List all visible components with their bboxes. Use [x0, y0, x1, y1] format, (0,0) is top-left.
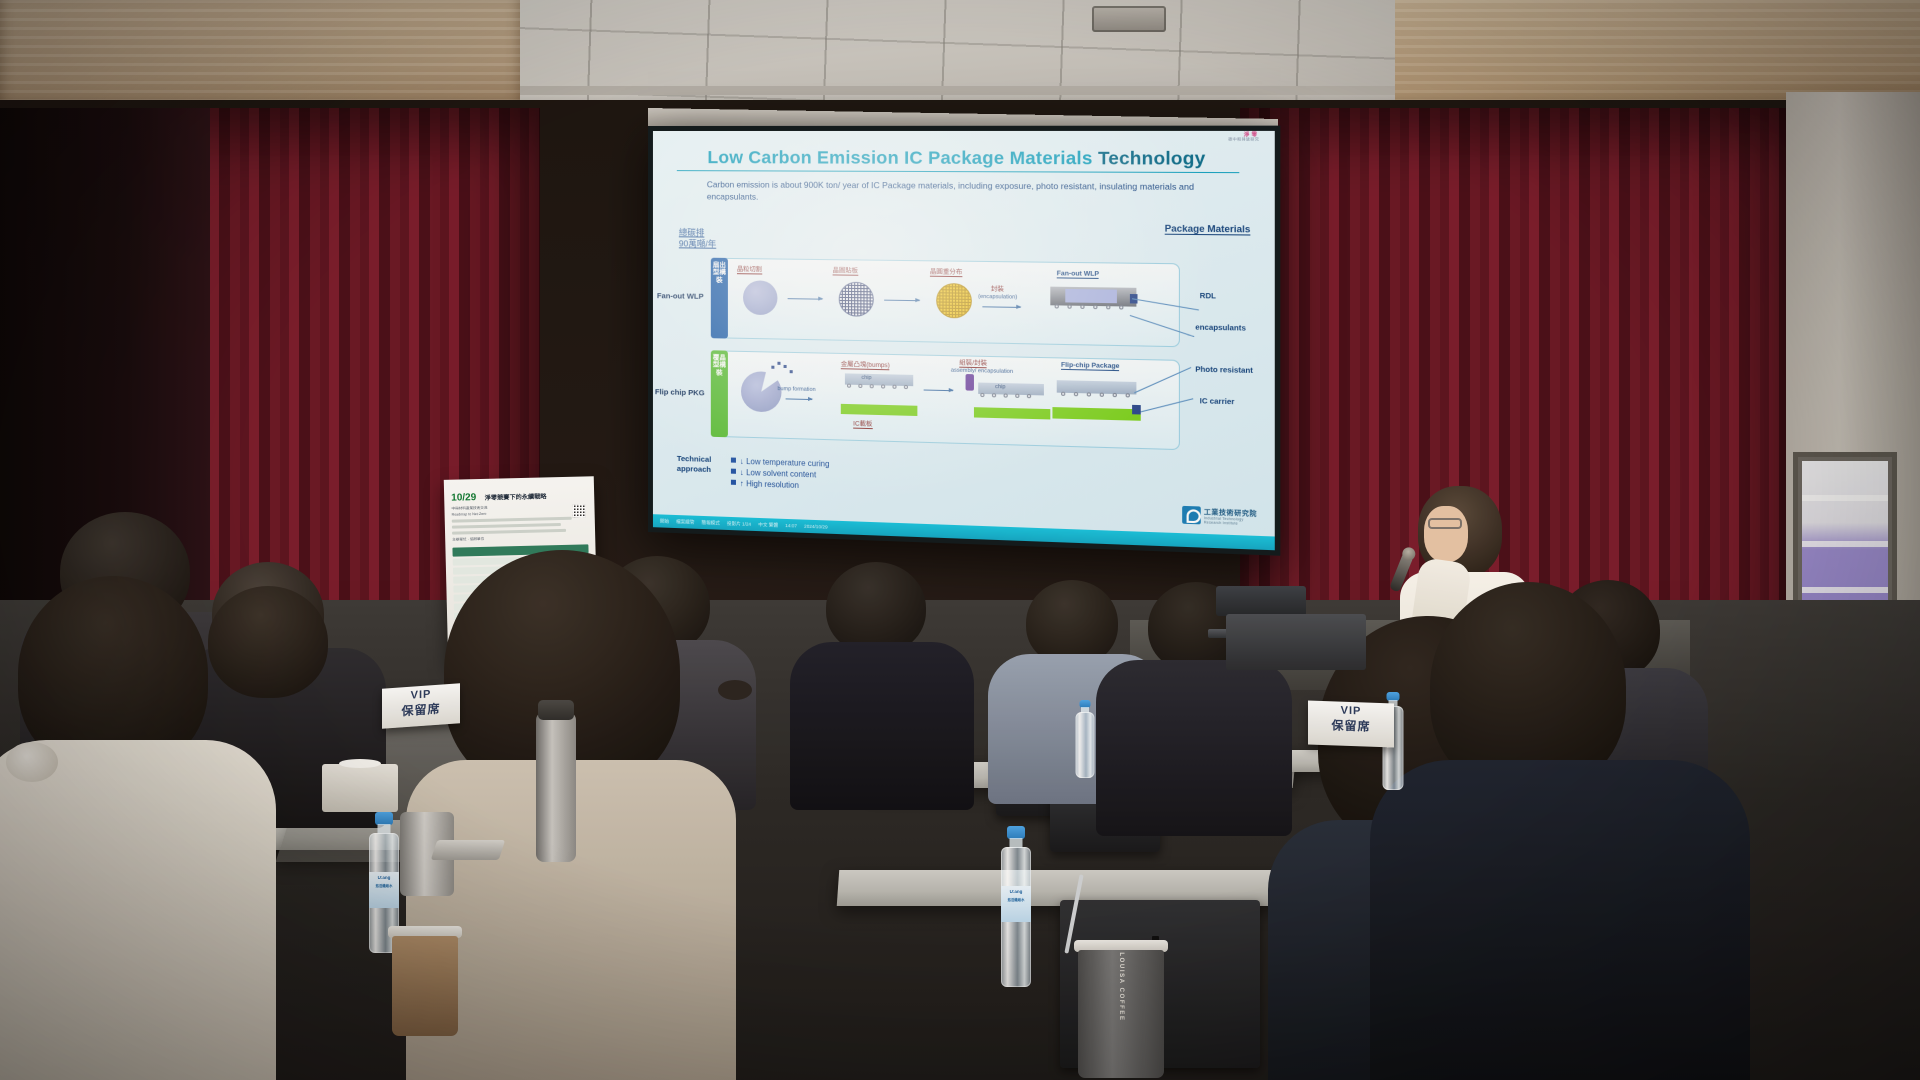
- taskbar-item[interactable]: 開始: [660, 518, 669, 524]
- fanout-die: [1065, 289, 1117, 303]
- flipchip-die-2-label: chip: [995, 384, 1005, 390]
- iced-coffee-cup[interactable]: LOUISA COFFEE: [1078, 940, 1164, 1080]
- taskbar-item[interactable]: 簡報模式: [701, 519, 719, 526]
- ceiling-air-vent: [1092, 6, 1166, 32]
- tonnage-line-2: 90萬噸/年: [679, 238, 716, 248]
- fanout-step-4-caption-en: (encapsulation): [978, 294, 1017, 301]
- water-bottle[interactable]: U:ang 悠活纖維水: [990, 826, 1042, 1006]
- audience-torso: [1096, 660, 1292, 836]
- bottle-brand: U:ang: [1001, 889, 1031, 894]
- slide-title-tail: Technology: [1098, 148, 1206, 169]
- tonnage-line-1: 總碳排: [679, 227, 705, 237]
- wafer-plain-icon: [743, 280, 777, 315]
- flipchip-result-label: Flip-chip Package: [1061, 362, 1119, 372]
- projected-slide: 淨零 碳中和排放研究 Low Carbon Emission IC Packag…: [653, 131, 1275, 550]
- package-material-rdl: RDL: [1200, 291, 1216, 301]
- thermos-bottle[interactable]: [536, 712, 576, 862]
- paper-coffee-cup[interactable]: [392, 926, 458, 1036]
- flipchip-row-label: Flip chip PKG: [655, 387, 705, 397]
- taskbar-item[interactable]: 中文 繁體: [758, 521, 778, 528]
- bump-formation-caption: bump formation: [777, 386, 815, 393]
- flipchip-die-label: chip: [861, 375, 871, 381]
- coffee-cup-brand: LOUISA COFFEE: [1118, 952, 1124, 1021]
- hair-scrunchie: [6, 742, 58, 782]
- fanout-step-2-caption: 晶圓貼板: [833, 265, 858, 276]
- poster-note: 主辦單位 · 協辦單位: [452, 534, 588, 542]
- conference-room-scene: 體驗 淨零 碳中和排放研究 Low Carbon Emission IC Pac…: [0, 0, 1920, 1080]
- package-material-photo-resistant: Photo resistant: [1195, 364, 1253, 375]
- fanout-step-4-caption: 封裝: [991, 284, 1004, 293]
- bullet-square-icon: [731, 469, 736, 474]
- technical-approach-list: ↓ Low temperature curing ↓ Low solvent c…: [731, 456, 830, 493]
- flipchip-die: [845, 373, 913, 386]
- technical-approach-label-line1: Technical: [677, 454, 711, 464]
- ic-carrier-caption: IC載板: [853, 418, 872, 429]
- smartphone[interactable]: [431, 840, 505, 860]
- presenter-face: [1424, 506, 1468, 562]
- slide-subtitle: Carbon emission is about 900K ton/ year …: [707, 179, 1237, 206]
- flipchip-die-2: [978, 383, 1044, 396]
- itri-mark-icon: [1182, 506, 1201, 525]
- slide-title-main: Low Carbon Emission IC Package Materials: [707, 147, 1098, 168]
- laptop-screen: [1216, 586, 1306, 616]
- slide-content: 淨零 碳中和排放研究 Low Carbon Emission IC Packag…: [653, 131, 1275, 550]
- foreground-torso: [1370, 760, 1750, 1080]
- itri-logo-en-2: Research Institute: [1204, 520, 1257, 526]
- vip-reserved-sign: VIP 保留席: [382, 683, 460, 728]
- cup-sleeve: [392, 936, 458, 1036]
- taskbar-item[interactable]: 2024/10/29: [804, 524, 828, 530]
- hair-tie: [718, 680, 752, 700]
- taskbar-item[interactable]: 14:07: [785, 523, 797, 528]
- av-equipment: [1226, 614, 1366, 670]
- glasses-icon: [1428, 518, 1462, 529]
- fanout-result-label: Fan-out WLP: [1057, 270, 1099, 279]
- fanout-row-tab: 扇出型構裝: [711, 258, 728, 339]
- flipchip-step-3-caption: 組裝/封裝: [959, 357, 987, 368]
- taskbar-item[interactable]: 檔案總管: [676, 519, 694, 526]
- bottle-sub: 悠活纖維水: [369, 883, 399, 888]
- ic-carrier-marker: [1132, 405, 1141, 415]
- projector-screen[interactable]: 淨零 碳中和排放研究 Low Carbon Emission IC Packag…: [648, 126, 1280, 556]
- total-carbon-annotation: 總碳排 90萬噸/年: [679, 227, 716, 249]
- fanout-step-3-caption: 晶圓重分布: [930, 266, 962, 277]
- foreground-torso: [0, 740, 276, 1080]
- package-material-ic-carrier: IC carrier: [1200, 396, 1235, 406]
- bottle-label: U:ang 悠活纖維水: [369, 872, 399, 908]
- package-materials-heading: Package Materials: [1165, 223, 1251, 235]
- itri-logo: 工業技術研究院 Industrial Technology Research I…: [1182, 506, 1257, 526]
- wafer-grid-icon: [839, 282, 874, 317]
- wafer-gold-icon: [936, 283, 972, 319]
- thermos-cap: [538, 700, 574, 720]
- slide-corner-brand: 淨零 碳中和排放研究: [1228, 133, 1259, 142]
- ic-substrate: [841, 404, 918, 416]
- flipchip-step-2-caption: 金屬凸塊(bumps): [841, 359, 890, 370]
- technical-approach-label: Technical approach: [677, 454, 711, 475]
- taskbar-item[interactable]: 投影片 1/24: [727, 520, 751, 527]
- fanout-row-label: Fan-out WLP: [657, 291, 704, 301]
- ic-carrier-block: [1052, 407, 1140, 421]
- poster-date: 10/29: [451, 492, 476, 504]
- ic-substrate-2: [974, 407, 1050, 419]
- audience-head: [826, 562, 926, 654]
- flipchip-package-cross-section: [1057, 380, 1137, 394]
- bottle-label: U:ang 悠活纖維水: [1001, 886, 1031, 922]
- flipchip-row-tab: 覆晶型構裝: [711, 350, 728, 437]
- bottle-brand: U:ang: [369, 875, 399, 880]
- fanout-step-1-caption: 晶粒切割: [737, 264, 762, 274]
- dispenser-icon: [966, 374, 974, 391]
- vip-reserved-sign: VIP 保留席: [1308, 700, 1394, 747]
- tissue-box[interactable]: [322, 764, 398, 812]
- vip-sign-line-2: 保留席: [1308, 715, 1394, 735]
- poster-qr-code: [572, 504, 585, 517]
- package-material-encapsulants: encapsulants: [1195, 322, 1246, 332]
- audience-torso: [790, 642, 974, 810]
- slide-title: Low Carbon Emission IC Package Materials…: [677, 147, 1239, 173]
- bullet-square-icon: [731, 458, 736, 463]
- bullet-square-icon: [731, 480, 736, 485]
- technical-approach-label-line2: approach: [677, 464, 711, 474]
- technical-approach-item-text: ↑ High resolution: [740, 479, 799, 490]
- slide-corner-brand-en: 碳中和排放研究: [1228, 138, 1259, 142]
- audience-head: [208, 586, 328, 698]
- poster-title: 淨零競賽下的永續戰略: [485, 493, 547, 502]
- water-bottle[interactable]: [1070, 700, 1100, 786]
- bottle-sub: 悠活纖維水: [1001, 897, 1031, 902]
